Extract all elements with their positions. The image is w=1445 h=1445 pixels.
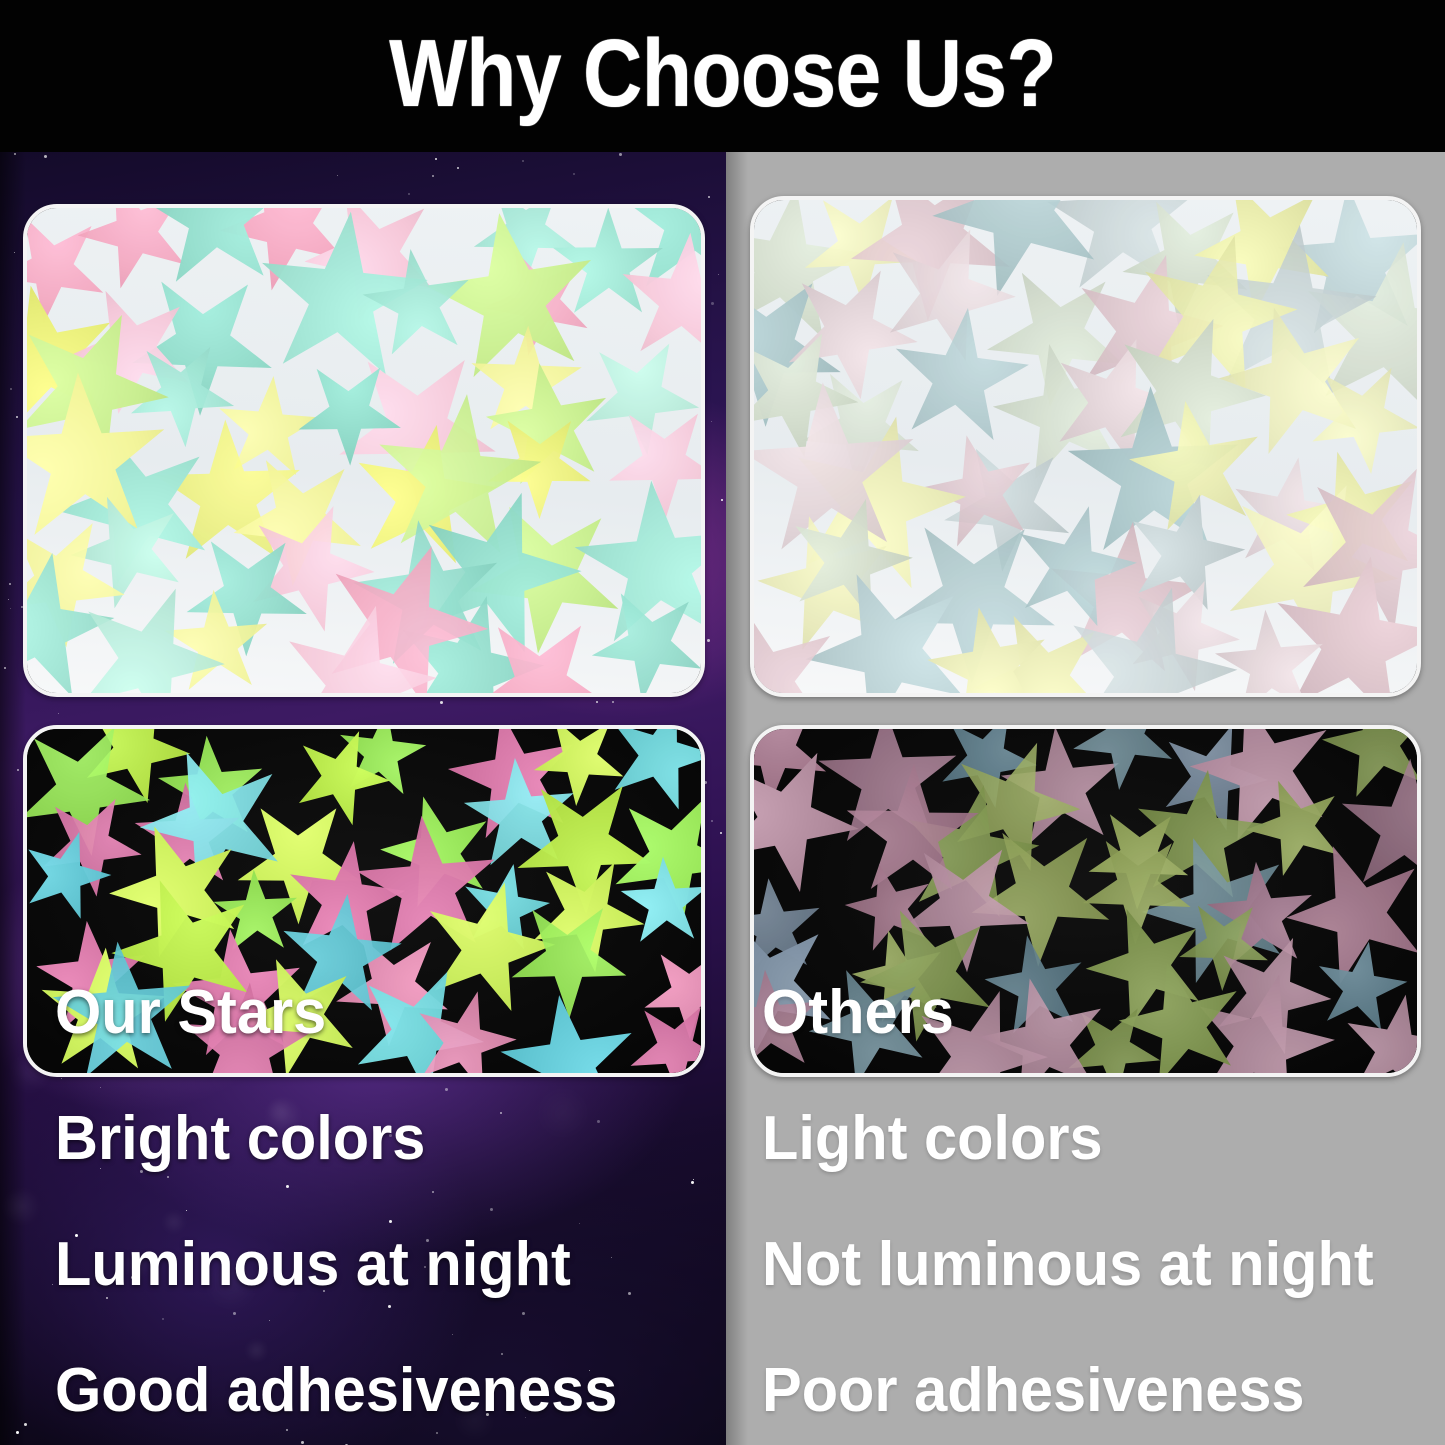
our-stars-column: Our Stars Bright colors Luminous at nigh…	[0, 152, 726, 1445]
others-feature-3: Poor adhesiveness	[762, 1360, 1445, 1422]
page-title: Why Choose Us?	[101, 22, 1344, 126]
others-feature-2: Not luminous at night	[762, 1234, 1445, 1296]
gray-left-shade	[726, 152, 748, 1445]
photo-panel-our-stars-daylight	[23, 204, 705, 697]
our-stars-feature-3: Good adhesiveness	[55, 1360, 726, 1422]
others-feature-0: Others	[762, 982, 1445, 1044]
star-shape	[1282, 838, 1417, 989]
others-column: Others Light colors Not luminous at nigh…	[726, 152, 1445, 1445]
photo-bright-pastel-stars-daylight	[27, 208, 701, 693]
others-feature-list: Others Light colors Not luminous at nigh…	[762, 982, 1445, 1445]
photo-panel-others-daylight	[750, 196, 1421, 697]
our-stars-feature-0: Our Stars	[55, 982, 726, 1044]
our-stars-feature-2: Luminous at night	[55, 1234, 726, 1296]
our-stars-feature-list: Our Stars Bright colors Luminous at nigh…	[55, 982, 726, 1445]
why-choose-us-infographic: Why Choose Us? Our Stars Bright colors L…	[0, 0, 1445, 1445]
our-stars-feature-1: Bright colors	[55, 1108, 726, 1170]
others-feature-1: Light colors	[762, 1108, 1445, 1170]
photo-pale-stars-daylight	[754, 200, 1417, 693]
header-bar: Why Choose Us?	[0, 0, 1445, 152]
